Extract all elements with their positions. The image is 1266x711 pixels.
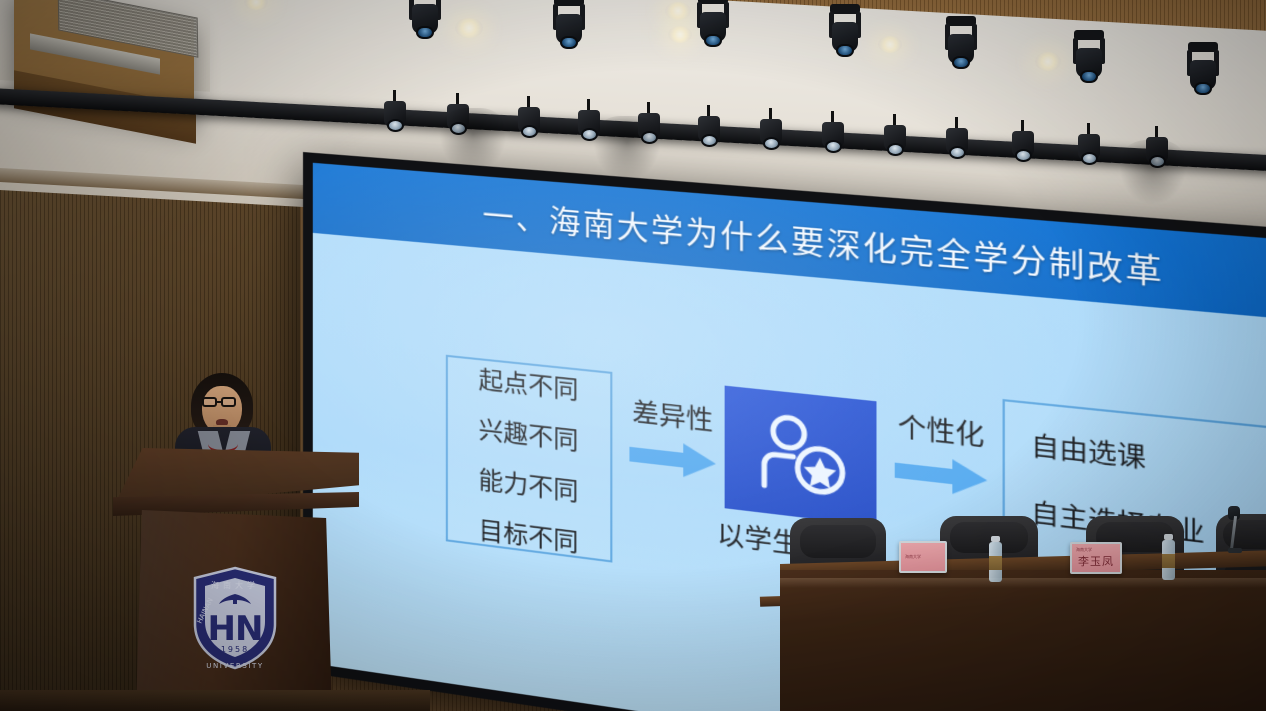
- wall-light-shadow: [1118, 140, 1188, 206]
- moving-head-light-icon: [548, 0, 590, 52]
- name-placard: 海南大学 李玉凤: [1070, 542, 1122, 574]
- arrow-personalization: 个性化: [884, 404, 997, 501]
- par-can-light-icon: [946, 125, 968, 163]
- head-table: [780, 570, 1266, 711]
- person-star-icon: [749, 407, 852, 504]
- par-can-light-icon: [1012, 128, 1034, 166]
- arrow-differentiation: 差异性: [620, 390, 726, 484]
- svg-text:UNIVERSITY: UNIVERSITY: [206, 662, 264, 670]
- glasses-icon: [221, 397, 236, 407]
- par-can-light-icon: [760, 116, 782, 154]
- ceiling-downlight-icon: [1035, 52, 1061, 71]
- right-arrow-icon: [892, 450, 989, 500]
- lectern: UNIVERSITY HAINAN 海南大学 HN 1958: [113, 448, 359, 711]
- par-can-light-icon: [884, 122, 906, 160]
- placard-subtitle: 海南大学: [905, 554, 921, 560]
- head-table-highlight: [780, 578, 1266, 588]
- svg-text:HN: HN: [208, 609, 263, 649]
- ceiling-downlight-icon: [455, 18, 483, 38]
- student-center-icon-card: [725, 386, 877, 527]
- ceiling-downlight-icon: [878, 36, 902, 53]
- glasses-icon: [202, 397, 217, 407]
- moving-head-light-icon: [940, 16, 982, 72]
- wall-light-shadow: [592, 116, 662, 182]
- par-can-light-icon: [518, 104, 540, 142]
- par-can-light-icon: [1078, 131, 1100, 169]
- name-placard: 海南大学: [899, 541, 947, 573]
- svg-text:1958: 1958: [221, 645, 249, 654]
- moving-head-light-icon: [404, 0, 446, 42]
- svg-text:海南大学: 海南大学: [211, 580, 259, 590]
- microphone-icon: [1228, 506, 1244, 556]
- par-can-light-icon: [822, 119, 844, 157]
- right-arrow-icon: [627, 435, 718, 483]
- auditorium-scene: 一、海南大学为什么要深化完全学分制改革 起点不同 兴趣不同 能力不同 目标不同 …: [0, 0, 1266, 711]
- par-can-light-icon: [698, 113, 720, 151]
- moving-head-light-icon: [1068, 30, 1110, 86]
- university-emblem: UNIVERSITY HAINAN 海南大学 HN 1958: [191, 566, 279, 670]
- par-can-light-icon: [384, 98, 406, 136]
- water-bottle: [988, 536, 1004, 584]
- differences-box: 起点不同 兴趣不同 能力不同 目标不同: [446, 355, 613, 563]
- glasses-bridge: [217, 401, 223, 403]
- water-bottle: [1161, 534, 1177, 582]
- moving-head-light-icon: [824, 4, 866, 60]
- stage-floor: [0, 690, 430, 711]
- moving-head-light-icon: [1182, 42, 1224, 98]
- moving-head-light-icon: [692, 0, 734, 50]
- ceiling-downlight-icon: [668, 26, 692, 43]
- placard-name: 李玉凤: [1078, 553, 1114, 569]
- arrow-label: 差异性: [620, 390, 726, 439]
- ceiling-downlight-icon: [665, 2, 691, 20]
- arrow-label: 个性化: [884, 404, 997, 455]
